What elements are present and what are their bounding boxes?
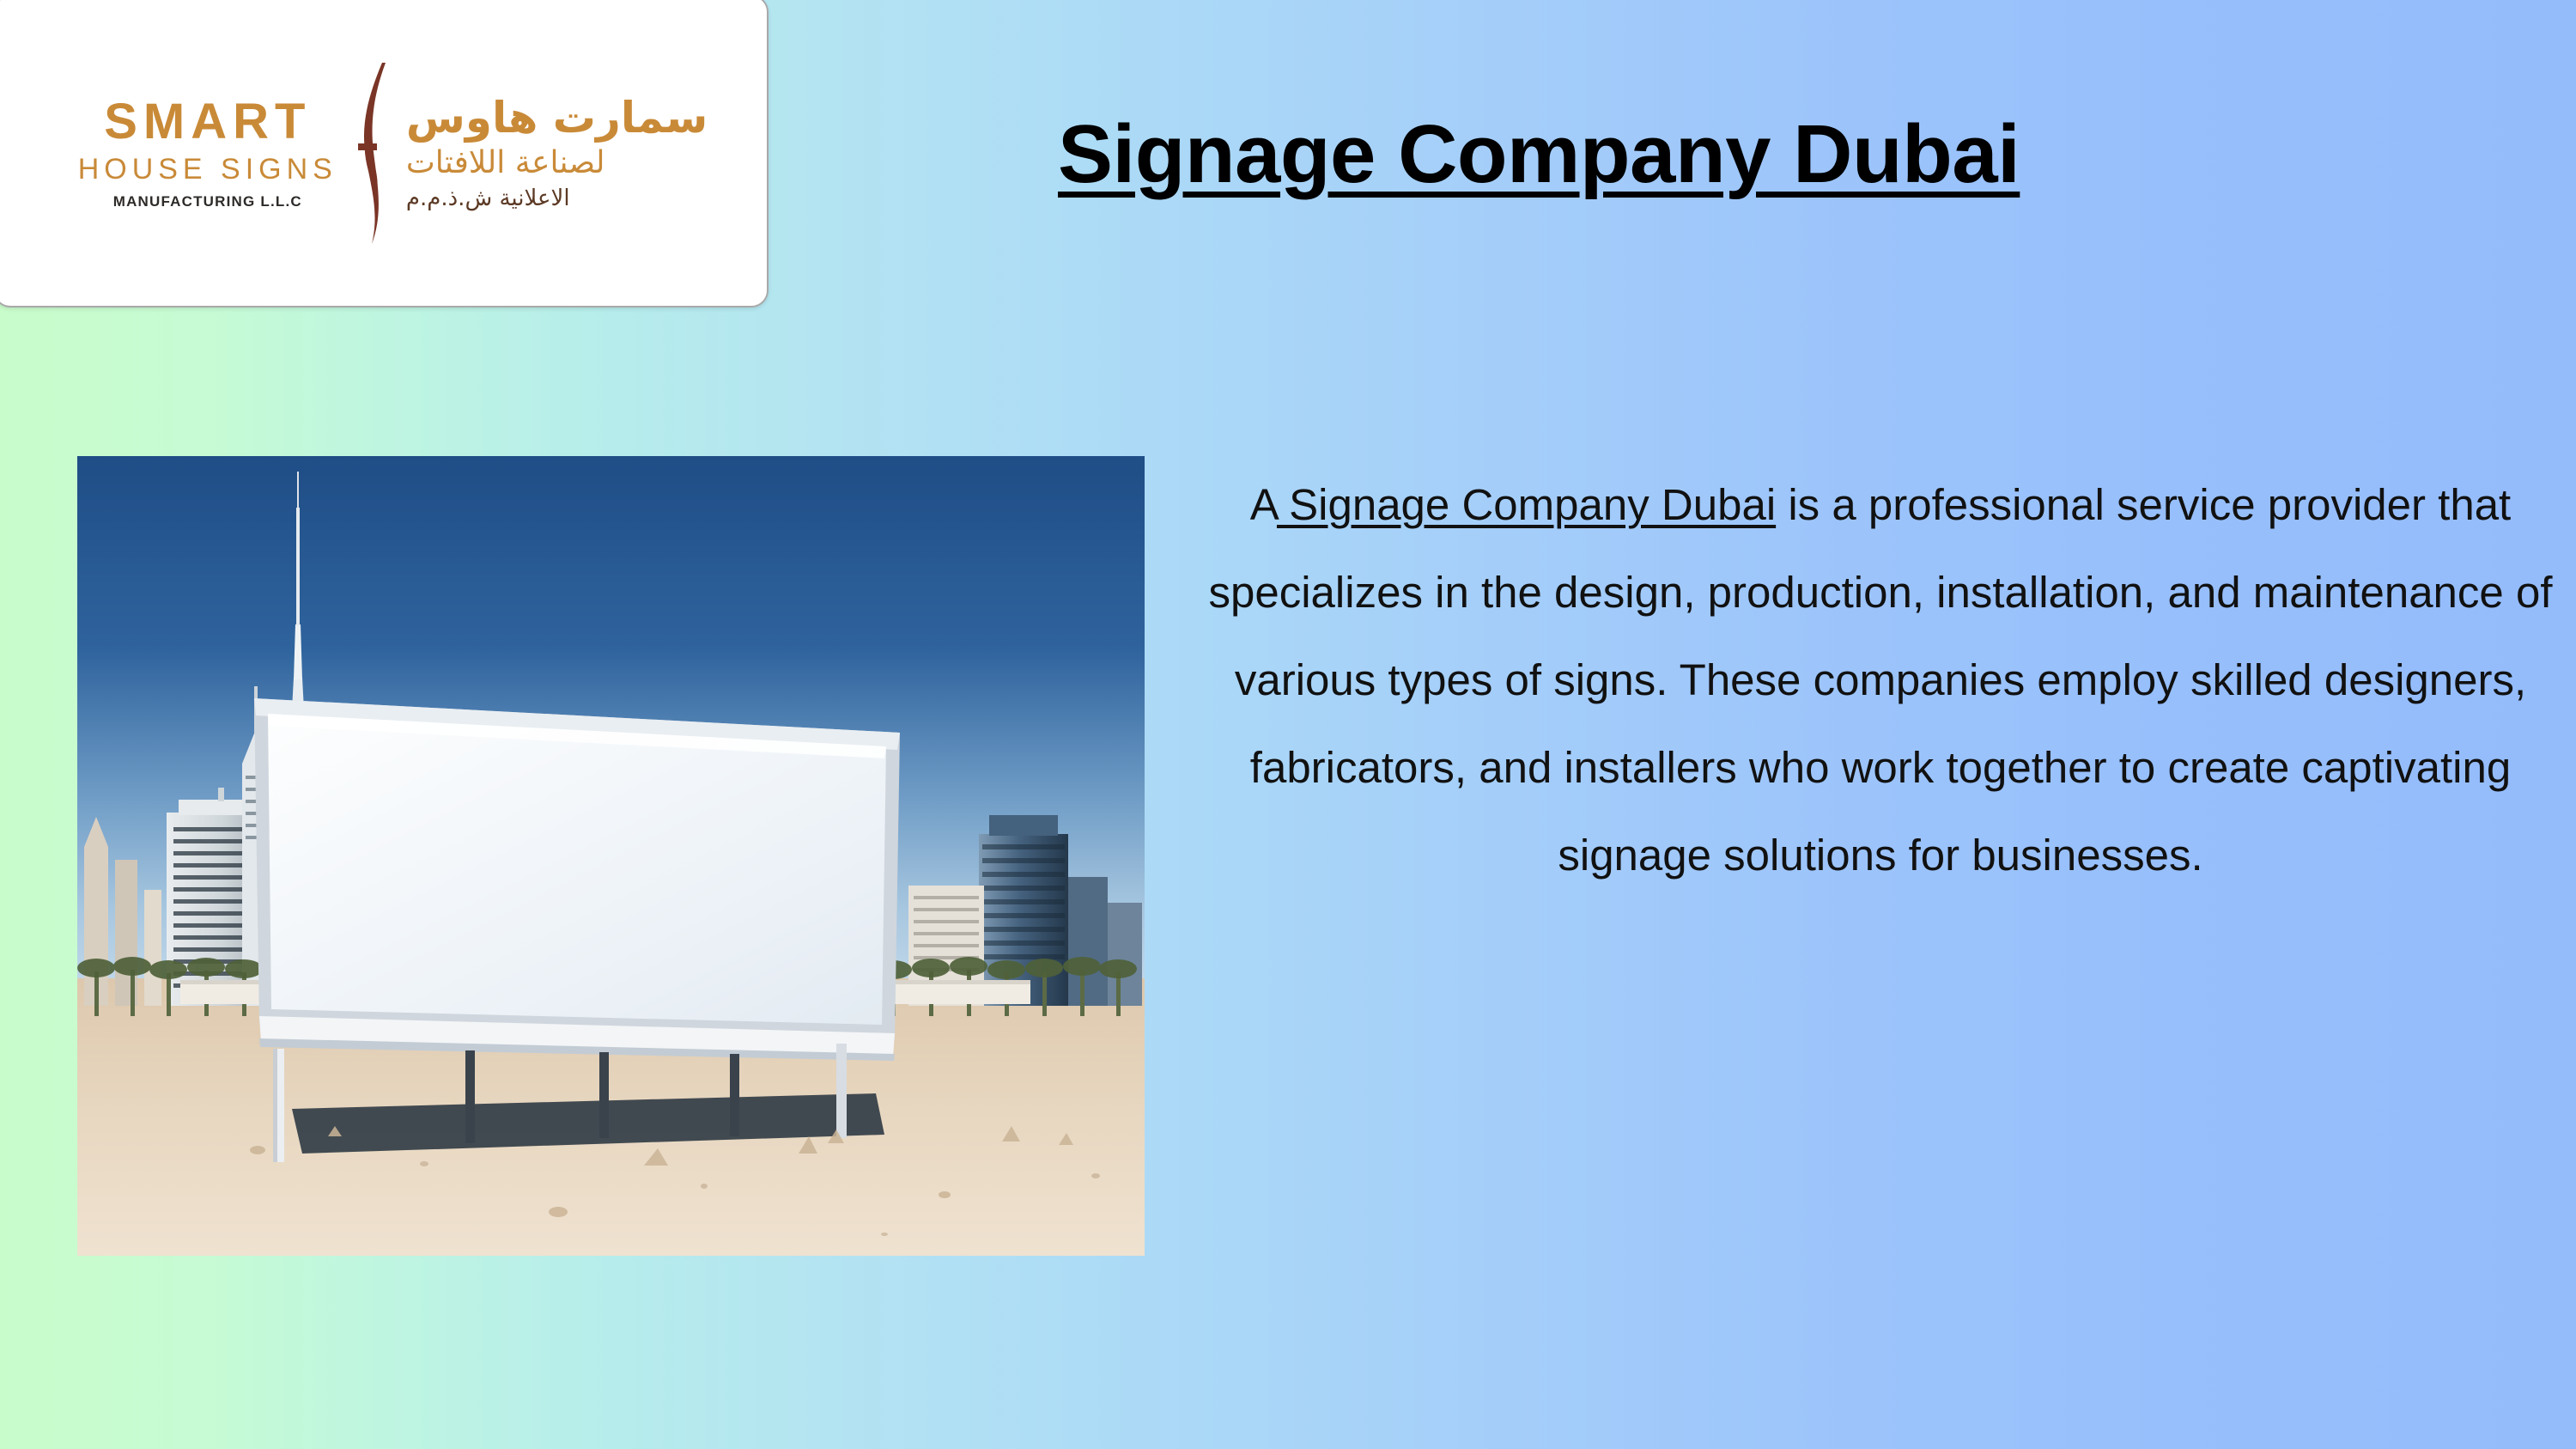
logo-inner: SMART HOUSE SIGNS MANUFACTURING L.L.C سم… <box>0 0 767 306</box>
logo-arabic-text: سمارت هاوس لصناعة اللافتات الاعلانية ش.ذ… <box>406 96 708 210</box>
logo-card: SMART HOUSE SIGNS MANUFACTURING L.L.C سم… <box>0 0 769 307</box>
page-title: Signage Company Dubai <box>1058 107 2020 202</box>
body-paragraph: A Signage Company Dubai is a professiona… <box>1194 461 2567 899</box>
logo-swoosh-icon <box>343 61 403 246</box>
logo-brand-house-signs: HOUSE SIGNS <box>78 155 337 184</box>
signage-company-dubai-link[interactable]: Signage Company Dubai <box>1277 480 1776 529</box>
logo-brand-smart: SMART <box>104 97 311 147</box>
slide-canvas: SMART HOUSE SIGNS MANUFACTURING L.L.C سم… <box>0 0 2576 1449</box>
body-text-after-link: is a professional service provider that … <box>1209 480 2553 880</box>
logo-brand-manufacturing: MANUFACTURING L.L.C <box>113 194 302 209</box>
billboard-photo <box>77 456 1145 1256</box>
logo-arabic-line-1: سمارت هاوس <box>406 96 708 139</box>
logo-lockup: SMART HOUSE SIGNS MANUFACTURING L.L.C سم… <box>78 61 708 246</box>
logo-english-text: SMART HOUSE SIGNS MANUFACTURING L.L.C <box>78 97 337 209</box>
billboard-photo-artwork <box>77 456 1145 1256</box>
logo-arabic-line-2: لصناعة اللافتات <box>406 148 605 179</box>
body-text-before-link: A <box>1250 480 1277 529</box>
logo-arabic-line-3: الاعلانية ش.ذ.م.م <box>406 187 570 210</box>
